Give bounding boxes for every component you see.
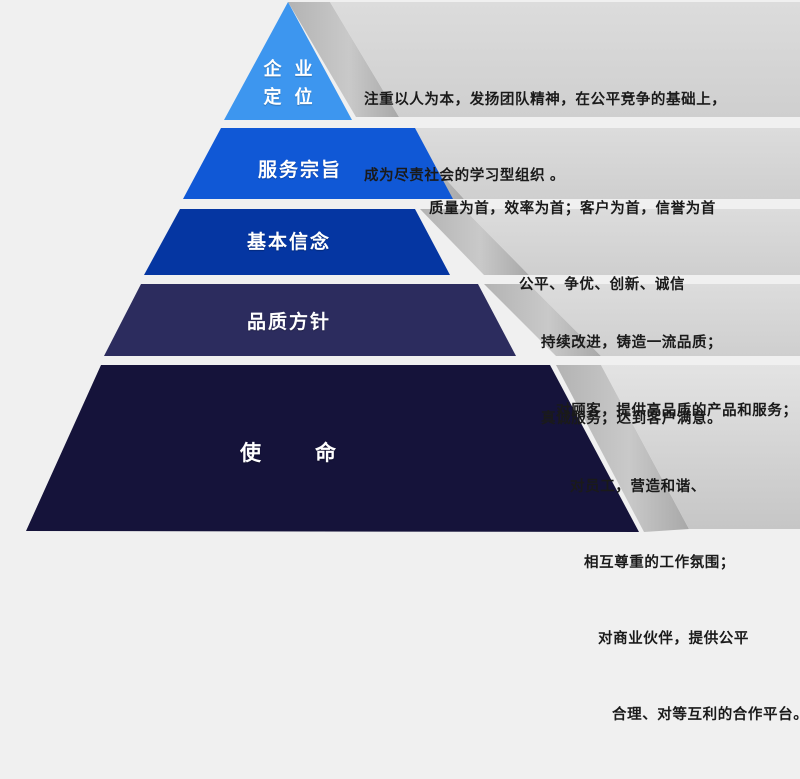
pyramid-diagram: 企 业 定 位 服务宗旨 基本信念 品质方针 使 命 注重以人为本，发扬团队精神… [0, 0, 800, 555]
level-5-description-line-1: 对顾客，提供高品质的产品和服务； [556, 399, 796, 424]
level-4-front-face[interactable] [104, 284, 516, 356]
level-5-description-line-5: 合理、对等互利的合作平台。 [556, 703, 796, 728]
level-5-description-line-2: 对员工，营造和谐、 [556, 475, 796, 500]
level-5-description: 对顾客，提供高品质的产品和服务； 对员工，营造和谐、 相互尊重的工作氛围； 对商… [556, 348, 796, 779]
level-2-description-line-1: 质量为首，效率为首；客户为首，信誉为首 [429, 197, 716, 222]
level-1-description-line-1: 注重以人为本，发扬团队精神，在公平竞争的基础上， [364, 88, 726, 113]
level-5-description-line-4: 对商业伙伴，提供公平 [556, 627, 796, 652]
